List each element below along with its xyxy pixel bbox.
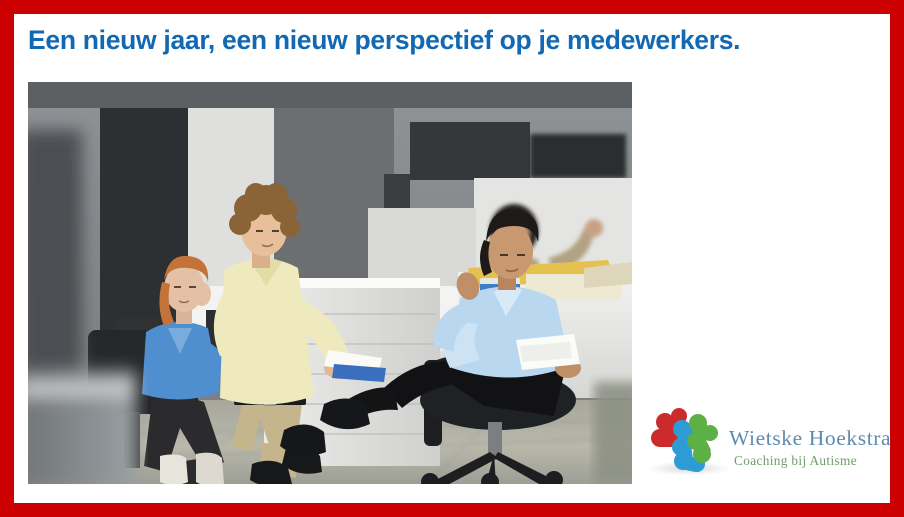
banner-inner-surface: Een nieuw jaar, een nieuw perspectief op… bbox=[14, 14, 890, 503]
logo-wordmark: Wietske Hoekstra Coaching bij Autisme bbox=[729, 427, 879, 469]
brand-logo[interactable]: Wietske Hoekstra Coaching bij Autisme bbox=[645, 405, 876, 484]
promo-banner-card: Een nieuw jaar, een nieuw perspectief op… bbox=[0, 0, 904, 517]
logo-mark-svg bbox=[650, 407, 718, 473]
puzzle-pieces-icon bbox=[650, 407, 718, 473]
hero-photo bbox=[28, 82, 632, 484]
office-scene-illustration bbox=[28, 82, 632, 484]
page-title: Een nieuw jaar, een nieuw perspectief op… bbox=[28, 26, 876, 55]
logo-tagline: Coaching bij Autisme bbox=[729, 453, 879, 469]
logo-name: Wietske Hoekstra bbox=[729, 427, 879, 450]
